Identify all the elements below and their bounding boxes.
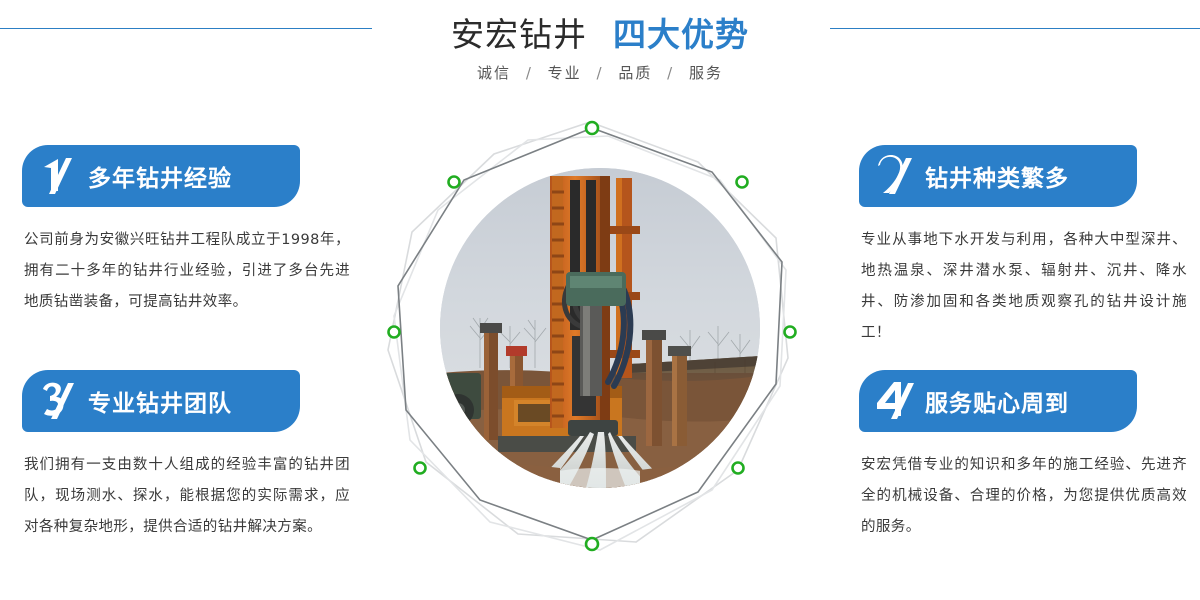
feature-card-2-title: 钻井种类繁多 <box>925 159 1069 193</box>
subtitle-separator-2: / <box>667 64 674 82</box>
subtitle-separator-1: / <box>596 64 603 82</box>
feature-card-2[interactable]: 钻井种类繁多 专业从事地下水开发与利用，各种大中型深井、地热温泉、深井潜水泵、辐… <box>855 145 1200 349</box>
feature-card-4-body: 安宏凭借专业的知识和多年的施工经验、先进齐全的机械设备、合理的价格，为您提供优质… <box>861 450 1187 543</box>
drilling-rig-photo <box>440 168 760 488</box>
title-accent: 四大优势 <box>613 15 749 54</box>
subtitle-item-1: 专业 <box>548 64 582 82</box>
feature-card-3[interactable]: 专业钻井团队 我们拥有一支由数十人组成的经验丰富的钻井团队，现场测水、探水，能根… <box>18 370 363 543</box>
feature-card-3-banner[interactable]: 专业钻井团队 <box>22 370 300 432</box>
feature-card-1-banner[interactable]: 多年钻井经验 <box>22 145 300 207</box>
title-main: 安宏钻井 <box>451 15 587 54</box>
number-2-icon <box>875 153 923 199</box>
feature-card-1-body: 公司前身为安徽兴旺钻井工程队成立于1998年，拥有二十多年的钻井行业经验，引进了… <box>24 225 350 318</box>
subtitle-item-2: 品质 <box>618 64 652 82</box>
polygon-node-right <box>785 327 796 338</box>
feature-card-4-banner[interactable]: 服务贴心周到 <box>859 370 1137 432</box>
feature-card-3-body: 我们拥有一支由数十人组成的经验丰富的钻井团队，现场测水、探水，能根据您的实际需求… <box>24 450 350 543</box>
subtitle-item-0: 诚信 <box>477 64 511 82</box>
header-subtitle: 诚信 / 专业 / 品质 / 服务 <box>0 62 1200 83</box>
feature-card-4[interactable]: 服务贴心周到 安宏凭借专业的知识和多年的施工经验、先进齐全的机械设备、合理的价格… <box>855 370 1200 543</box>
subtitle-item-3: 服务 <box>689 64 723 82</box>
page-header: 安宏钻井四大优势 诚信 / 专业 / 品质 / 服务 <box>0 0 1200 110</box>
feature-card-2-body: 专业从事地下水开发与利用，各种大中型深井、地热温泉、深井潜水泵、辐射井、沉井、降… <box>861 225 1187 349</box>
page-root: 安宏钻井四大优势 诚信 / 专业 / 品质 / 服务 多年钻井经验 公司前身为安… <box>0 0 1200 600</box>
feature-card-1[interactable]: 多年钻井经验 公司前身为安徽兴旺钻井工程队成立于1998年，拥有二十多年的钻井行… <box>18 145 363 318</box>
polygon-node-left <box>389 327 400 338</box>
feature-card-3-title: 专业钻井团队 <box>88 384 232 418</box>
number-4-icon <box>875 378 923 424</box>
polygon-node-top <box>586 122 598 134</box>
feature-card-2-banner[interactable]: 钻井种类繁多 <box>859 145 1137 207</box>
feature-card-1-title: 多年钻井经验 <box>88 159 232 193</box>
polygon-node-bottom-left <box>415 463 426 474</box>
center-graphic <box>368 110 832 600</box>
number-3-icon <box>38 378 86 424</box>
polygon-node-bottom <box>586 538 598 550</box>
number-1-icon <box>38 153 86 199</box>
page-title: 安宏钻井四大优势 <box>0 8 1200 56</box>
subtitle-separator-0: / <box>526 64 533 82</box>
feature-card-4-title: 服务贴心周到 <box>925 384 1069 418</box>
